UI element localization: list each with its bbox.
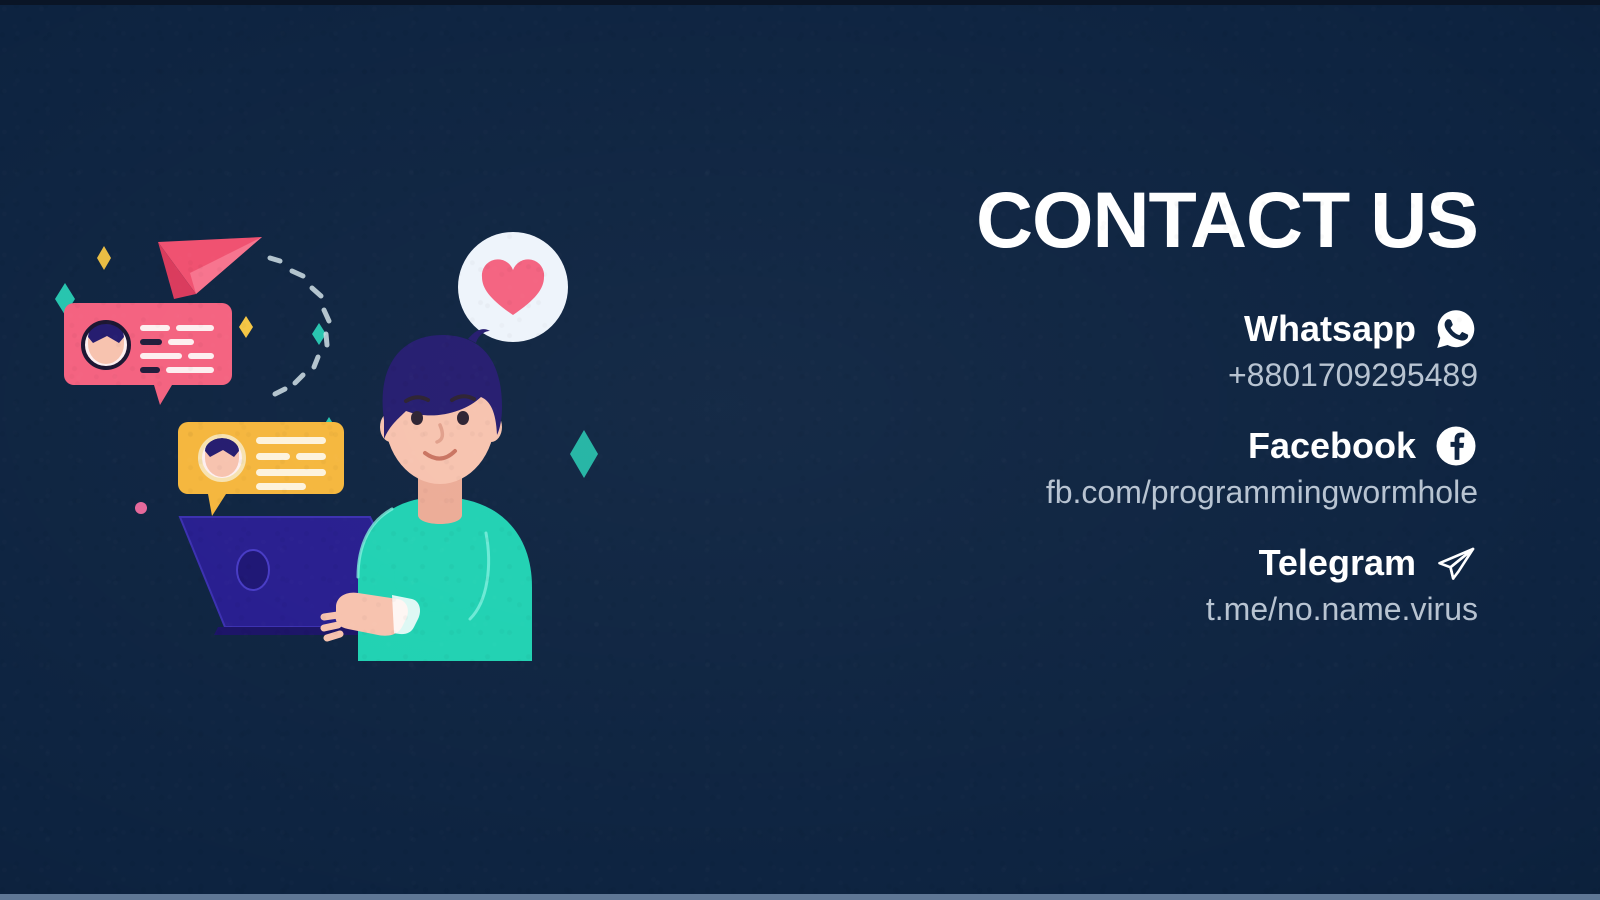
contact-us-slide: CONTACT US Whatsapp +8801709295489 Fac: [0, 0, 1600, 900]
contact-list: Whatsapp +8801709295489 Facebook: [778, 307, 1478, 627]
paper-plane-illustration: [158, 237, 262, 299]
contact-row-whatsapp[interactable]: Whatsapp: [778, 307, 1478, 351]
contact-value-whatsapp[interactable]: +8801709295489: [778, 357, 1478, 394]
telegram-icon[interactable]: [1434, 541, 1478, 585]
page-title: CONTACT US: [778, 180, 1478, 259]
contact-item-whatsapp[interactable]: Whatsapp +8801709295489: [778, 307, 1478, 394]
top-edge-strip: [0, 0, 1600, 5]
facebook-icon[interactable]: [1434, 424, 1478, 468]
contact-item-facebook[interactable]: Facebook fb.com/programmingwormhole: [778, 424, 1478, 511]
chat-bubble-yellow: [178, 422, 344, 516]
contact-panel: CONTACT US Whatsapp +8801709295489 Fac: [778, 180, 1478, 627]
heart-reaction-bubble: [458, 232, 568, 342]
contact-row-facebook[interactable]: Facebook: [778, 424, 1478, 468]
contact-label-facebook: Facebook: [1248, 426, 1416, 466]
chat-bubble-pink: [64, 303, 232, 405]
person-illustration: [324, 329, 532, 661]
contact-label-telegram: Telegram: [1259, 543, 1416, 583]
contact-value-facebook[interactable]: fb.com/programmingwormhole: [778, 474, 1478, 511]
whatsapp-icon[interactable]: [1434, 307, 1478, 351]
contact-item-telegram[interactable]: Telegram t.me/no.name.virus: [778, 541, 1478, 628]
contact-value-telegram[interactable]: t.me/no.name.virus: [778, 591, 1478, 628]
contact-label-whatsapp: Whatsapp: [1244, 309, 1416, 349]
contact-row-telegram[interactable]: Telegram: [778, 541, 1478, 585]
illustration-person-chatting-on-laptop: [40, 215, 600, 665]
bottom-edge-strip: [0, 894, 1600, 900]
